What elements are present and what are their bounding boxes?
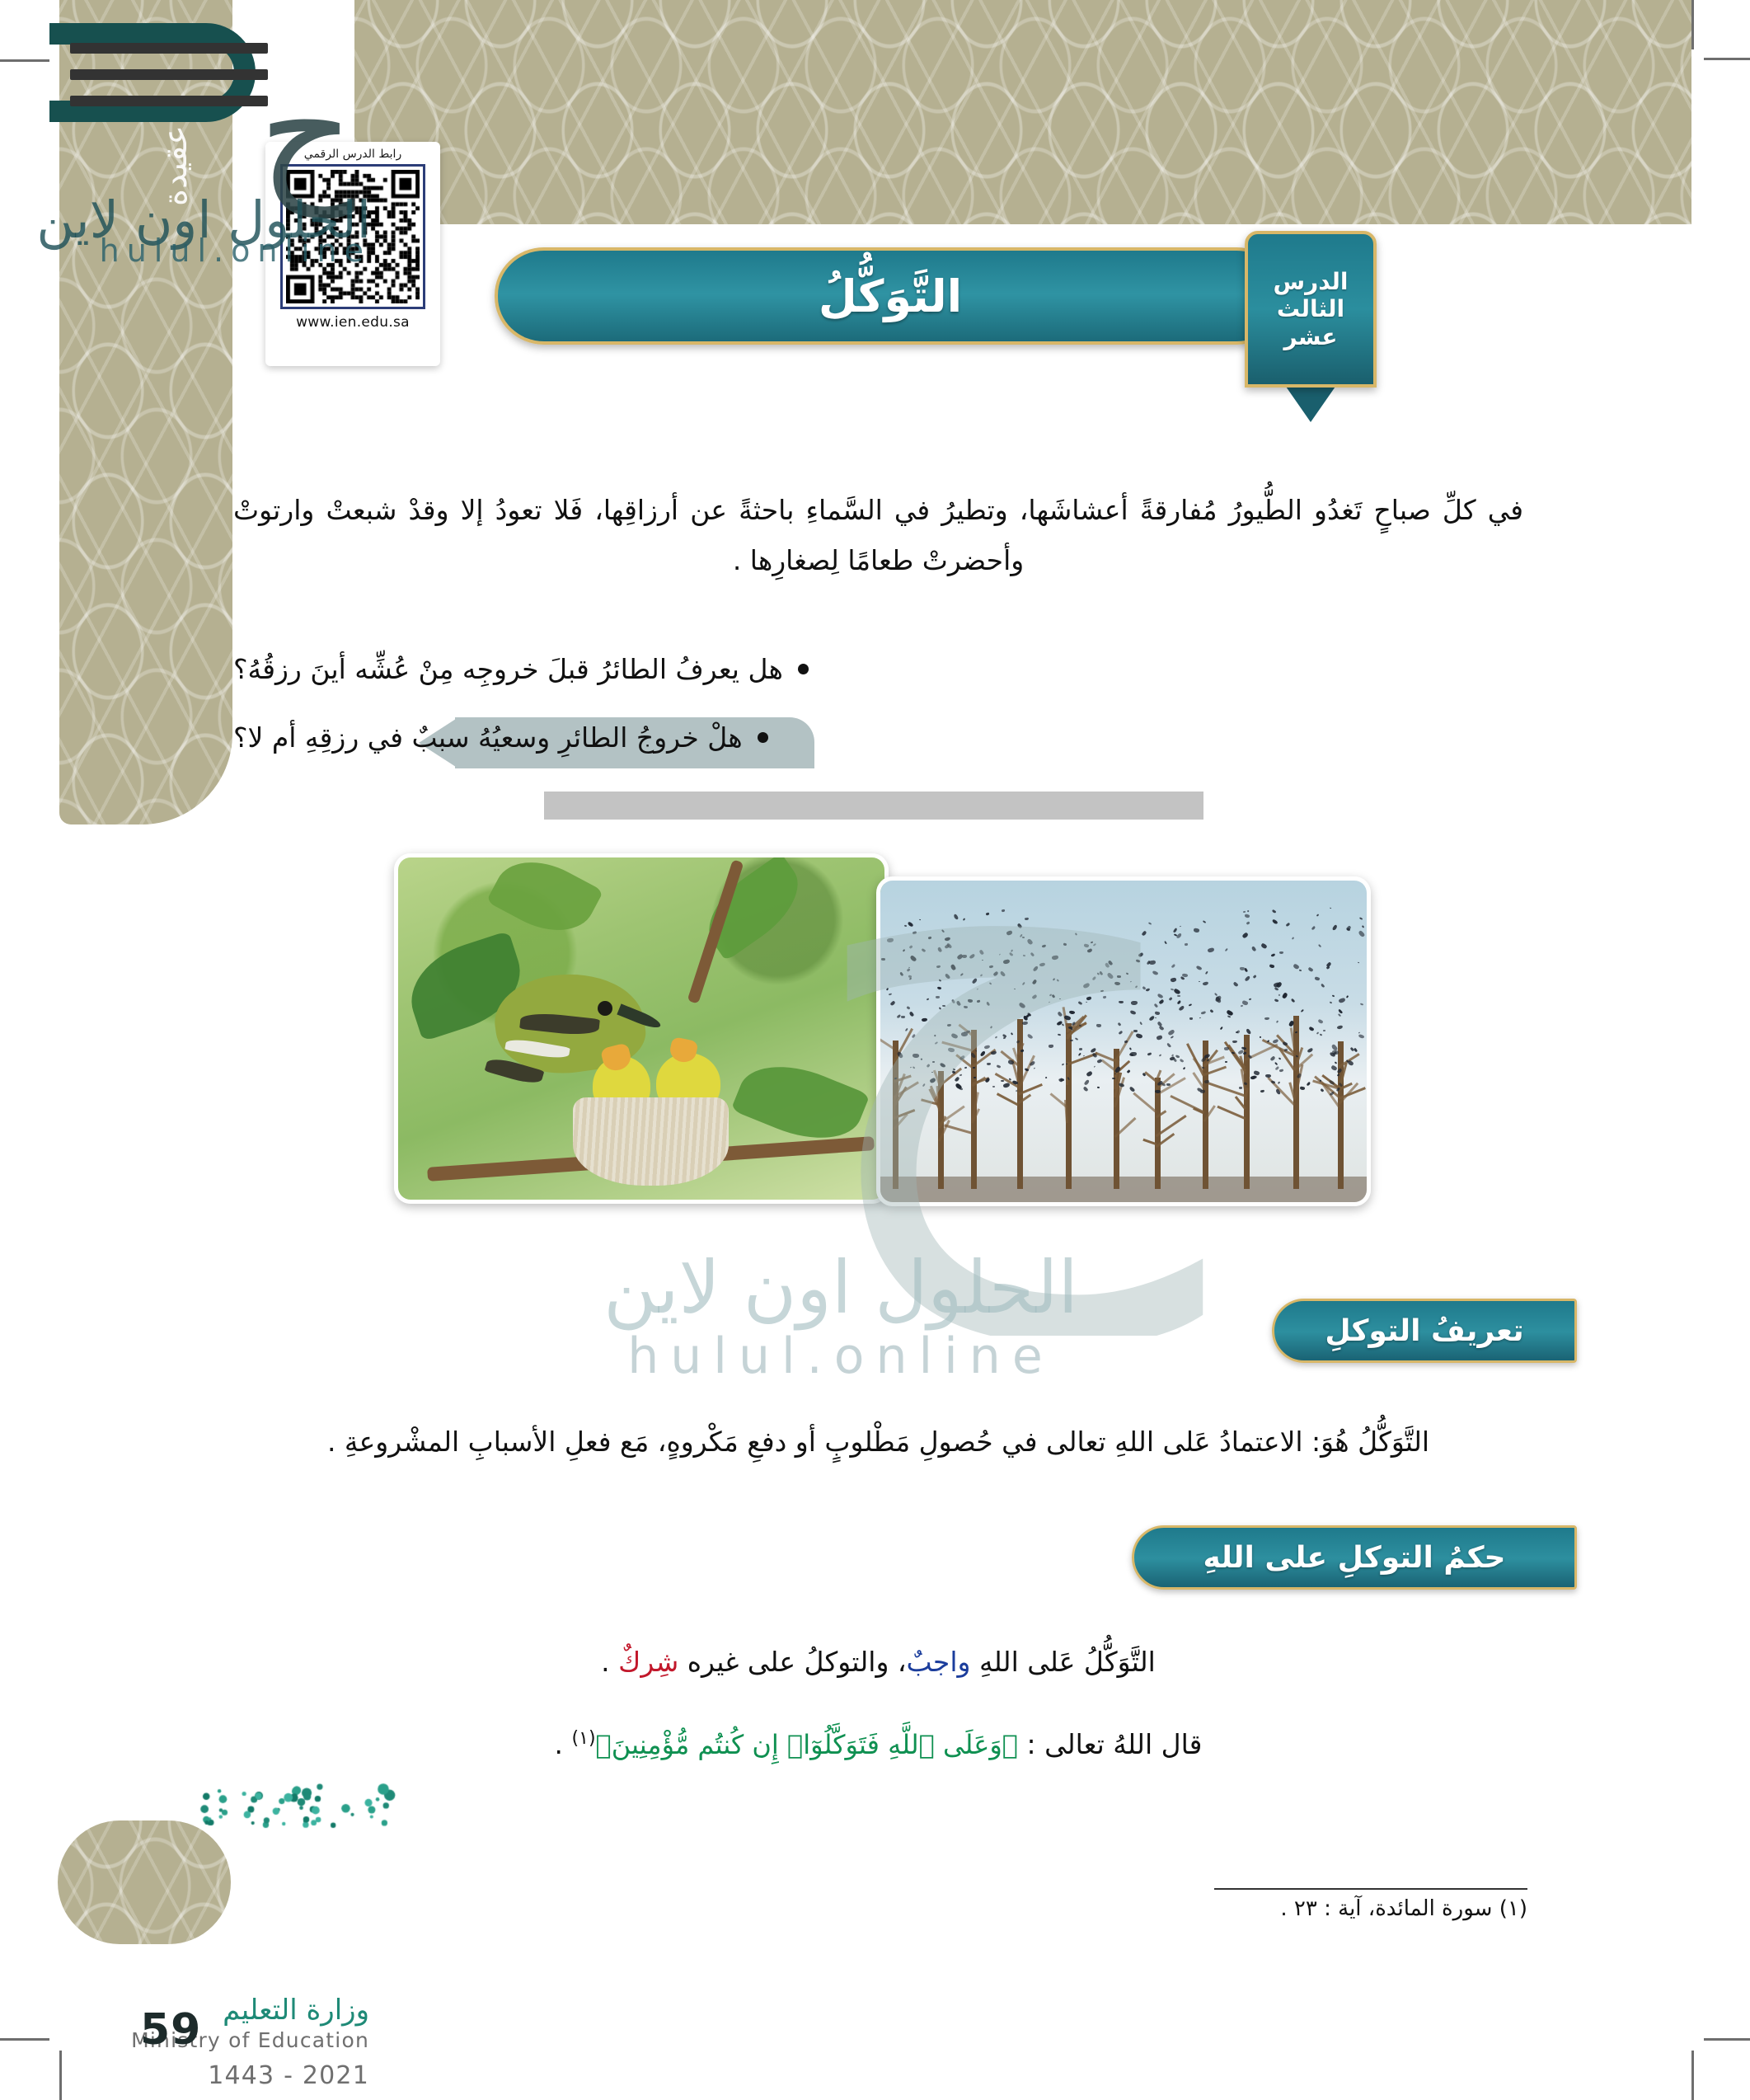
flying-bird-speck [1077, 1053, 1081, 1056]
lesson-badge-line-3: عشر [1283, 324, 1337, 350]
flying-bird-speck [1244, 968, 1248, 973]
flying-bird-speck [1010, 1032, 1012, 1036]
qr-caption: رابط الدرس الرقمي [274, 148, 432, 161]
flying-bird-speck [973, 1067, 975, 1069]
flying-bird-speck [951, 999, 955, 1004]
flying-bird-speck [913, 1054, 919, 1058]
flying-bird-speck [1296, 1055, 1298, 1057]
flying-bird-speck [1000, 1080, 1003, 1082]
flying-bird-speck [977, 999, 981, 1003]
flying-bird-speck [1265, 1074, 1271, 1078]
flying-bird-speck [1203, 921, 1206, 924]
flying-bird-speck [1260, 1090, 1264, 1093]
flying-bird-speck [907, 921, 913, 927]
flying-bird-speck [1155, 1017, 1157, 1018]
flying-bird-speck [999, 954, 1001, 956]
section-header-ruling: حكمُ التوكلِ على اللهِ [1132, 1525, 1577, 1590]
flying-bird-speck [1024, 1068, 1029, 1072]
ruling-part-2: ، والتوكلُ على غيره [678, 1646, 906, 1678]
flying-bird-speck [941, 929, 944, 933]
flying-bird-speck [989, 965, 993, 968]
flying-bird-speck [1311, 926, 1316, 931]
crop-mark-top-left-horizontal [0, 59, 49, 62]
flying-bird-speck [1091, 941, 1094, 943]
flying-bird-speck [905, 1028, 908, 1031]
flying-bird-speck [908, 1011, 913, 1017]
flying-bird-speck [1112, 1078, 1115, 1079]
flying-bird-speck [1320, 984, 1325, 989]
verse-lead-in: قال اللهُ تعالى : [1018, 1728, 1202, 1760]
flying-bird-speck [958, 1087, 963, 1091]
flying-bird-speck [1283, 1049, 1288, 1052]
crop-mark-top-right-vertical [1691, 0, 1694, 49]
flying-bird-speck [1097, 1086, 1100, 1088]
flying-bird-speck [1114, 1066, 1121, 1073]
digital-lesson-qr-card[interactable]: رابط الدرس الرقمي www.ien.edu.sa [265, 142, 440, 366]
flying-bird-speck [945, 937, 951, 942]
flying-bird-speck [1032, 979, 1038, 984]
flying-bird-speck [922, 948, 926, 952]
flying-bird-speck [1260, 1036, 1262, 1038]
flying-bird-speck [1271, 918, 1278, 925]
flying-bird-speck [1069, 1010, 1076, 1014]
flying-bird-speck [1011, 1080, 1018, 1085]
flying-bird-speck [1072, 1022, 1077, 1027]
flying-bird-speck [1244, 1082, 1248, 1086]
flying-bird-speck [984, 1045, 991, 1050]
flying-bird-speck [1208, 947, 1215, 953]
flying-bird-speck [1094, 1066, 1096, 1069]
ruling-word-shirk: شِركٌ [618, 1646, 678, 1678]
flying-bird-speck [975, 1050, 977, 1051]
flying-bird-speck [985, 1077, 991, 1083]
flying-bird-speck [1086, 996, 1091, 1000]
flying-bird-speck [1269, 964, 1275, 969]
flying-bird-speck [1308, 1027, 1314, 1031]
flying-bird-speck [1106, 972, 1114, 980]
flying-bird-speck [1246, 921, 1250, 925]
flying-bird-speck [927, 1064, 931, 1068]
flying-bird-speck [972, 978, 978, 984]
flying-bird-speck [1027, 938, 1034, 946]
flying-bird-speck [1241, 1004, 1244, 1007]
list-item: هلْ خروجُ الطائرِ وسعيُهُ سببٌ في رزقِهِ… [233, 720, 1523, 754]
flying-bird-speck [1128, 1086, 1135, 1092]
flying-bird-speck [1348, 1059, 1355, 1066]
list-item: هل يعرفُ الطائرُ قبلَ خروجِه مِنْ عُشِّه… [233, 651, 1523, 685]
flying-bird-speck [1232, 1041, 1237, 1044]
textbook-page: عقيدة رابط الدرس الرقمي www.ien.edu.sa ا… [0, 0, 1750, 2100]
flying-bird-speck [1326, 965, 1330, 970]
flying-bird-speck [1306, 1082, 1311, 1087]
flying-bird-speck [956, 953, 964, 960]
flying-bird-speck [1058, 998, 1060, 1000]
flying-bird-speck [921, 1059, 923, 1061]
flying-bird-speck [1075, 933, 1077, 936]
flying-bird-speck [951, 1070, 955, 1074]
flying-bird-speck [955, 1001, 960, 1007]
flying-bird-speck [1264, 1017, 1269, 1021]
flying-bird-speck [1127, 1069, 1131, 1073]
definition-paragraph: التَّوَكُّلُ هُوَ: الاعتمادُ عَلى اللهِ … [233, 1416, 1523, 1467]
flying-bird-speck [992, 1085, 994, 1087]
flying-bird-speck [1345, 925, 1351, 931]
flying-bird-speck [1194, 928, 1200, 933]
flying-bird-speck [963, 918, 965, 921]
flying-bird-speck [1206, 1059, 1208, 1061]
flying-bird-speck [1118, 1031, 1123, 1035]
flying-bird-speck [1000, 970, 1006, 977]
flying-bird-speck [988, 982, 992, 985]
flying-bird-speck [1075, 1037, 1078, 1041]
flying-bird-speck [964, 1067, 967, 1069]
flying-bird-speck [1233, 982, 1239, 988]
flying-bird-speck [1138, 951, 1144, 957]
footnote-reference-marker: (١) [572, 1728, 596, 1749]
watermark-arabic: الحلول اون لاين [429, 1245, 1253, 1330]
flying-bird-speck [1020, 1049, 1024, 1052]
flying-bird-speck [1147, 1052, 1152, 1055]
flying-bird-speck [1129, 1047, 1132, 1050]
flying-bird-speck [1336, 1088, 1340, 1092]
flying-bird-speck [1022, 982, 1025, 985]
flying-bird-speck [1092, 943, 1096, 947]
flying-bird-speck [1002, 909, 1006, 912]
flying-bird-speck [1330, 907, 1332, 909]
flying-bird-speck [1099, 970, 1104, 975]
flying-bird-speck [910, 955, 917, 962]
flying-bird-speck [1270, 953, 1275, 957]
lesson-title-banner: التَّوَكُّلُ [495, 247, 1286, 345]
flying-bird-speck [1063, 943, 1067, 947]
flying-bird-speck [1337, 1069, 1343, 1074]
flying-bird-speck [1291, 998, 1296, 1003]
flying-bird-speck [1246, 909, 1249, 912]
flying-bird-speck [1079, 1048, 1083, 1050]
flying-bird-speck [922, 1018, 927, 1022]
flying-bird-speck [977, 988, 979, 990]
flying-bird-speck [1278, 994, 1281, 995]
flying-bird-speck [1288, 1020, 1295, 1027]
flying-bird-speck [919, 919, 922, 921]
flying-bird-speck [1272, 909, 1277, 914]
flying-bird-speck [1332, 1050, 1339, 1055]
flying-bird-speck [1274, 998, 1278, 1003]
flying-bird-speck [1242, 1051, 1246, 1055]
crop-mark-bottom-right-horizontal [1704, 2038, 1750, 2041]
flying-bird-speck [1129, 1010, 1136, 1015]
flying-bird-speck [1185, 943, 1189, 946]
flying-bird-speck [1339, 1083, 1343, 1087]
flying-bird-speck [1087, 947, 1093, 952]
flying-bird-speck [1148, 960, 1155, 965]
flying-bird-speck [1346, 995, 1349, 998]
flying-bird-speck [899, 971, 904, 976]
flying-bird-speck [922, 1083, 926, 1088]
flying-bird-speck [1148, 1015, 1155, 1022]
flying-bird-speck [894, 1078, 898, 1080]
flying-bird-speck [1282, 992, 1288, 999]
flying-bird-speck [1329, 1001, 1332, 1003]
flying-bird-speck [1276, 1020, 1279, 1023]
flying-bird-speck [1124, 1040, 1128, 1043]
flying-bird-speck [1052, 956, 1058, 961]
flying-bird-speck [1069, 1040, 1072, 1042]
lesson-number-badge: الدرس الثالث عشر [1245, 231, 1377, 388]
flying-bird-speck [937, 986, 942, 989]
flying-bird-speck [936, 996, 940, 998]
flying-bird-speck [1315, 977, 1320, 981]
flying-bird-speck [1017, 923, 1023, 929]
flying-bird-speck [1173, 988, 1180, 994]
flying-bird-speck [1317, 944, 1321, 947]
flying-bird-speck [1024, 918, 1028, 921]
flying-bird-speck [1176, 933, 1183, 939]
flying-bird-speck [1052, 994, 1056, 998]
flying-bird-speck [964, 1006, 968, 1009]
flying-bird-speck [1338, 1013, 1341, 1017]
crop-mark-top-right-horizontal [1704, 58, 1750, 60]
flying-bird-speck [1320, 1088, 1324, 1092]
lesson-badge-line-1: الدرس [1273, 269, 1348, 294]
flying-bird-speck [1086, 1002, 1088, 1003]
quran-verse-line: قال اللهُ تعالى : ﴿وَعَلَى ٱللَّهِ فَتَو… [233, 1719, 1523, 1769]
nest-scene [398, 857, 884, 1200]
flying-bird-speck [1082, 1055, 1085, 1056]
flying-bird-speck [1031, 994, 1037, 999]
flying-bird-speck [1202, 1067, 1205, 1069]
flying-bird-speck [979, 974, 982, 976]
flying-bird-speck [1133, 1029, 1138, 1031]
page-number: 59 [140, 2005, 201, 2055]
flying-bird-speck [1114, 1073, 1117, 1075]
flying-bird-speck [980, 1050, 987, 1057]
flying-bird-speck [1078, 1001, 1082, 1005]
flying-bird-speck [1236, 1030, 1241, 1034]
flock-of-birds-photo [876, 876, 1371, 1206]
flying-bird-speck [995, 1036, 998, 1039]
flying-bird-speck [947, 1024, 952, 1027]
flying-bird-speck [1279, 951, 1283, 954]
flying-bird-speck [1278, 1069, 1283, 1073]
flying-bird-speck [1026, 1034, 1033, 1041]
flying-bird-speck [1018, 1002, 1025, 1009]
flying-bird-speck [1225, 948, 1228, 951]
flying-bird-speck [1204, 1080, 1210, 1084]
flying-bird-speck [996, 1065, 1000, 1069]
flying-bird-speck [1042, 945, 1047, 949]
flying-bird-speck [1030, 952, 1035, 956]
verse-trailing-period: . [555, 1728, 572, 1760]
flying-bird-speck [1159, 1054, 1161, 1056]
section-header-label: حكمُ التوكلِ على اللهِ [1203, 1541, 1506, 1575]
flying-bird-speck [907, 968, 911, 972]
flying-bird-speck [1066, 1064, 1067, 1065]
flying-bird-speck [1175, 1055, 1180, 1059]
flying-bird-speck [960, 973, 964, 976]
verse-open-ornament-icon: ﴿ [1002, 1729, 1018, 1760]
flying-bird-speck [1292, 937, 1294, 941]
flying-bird-speck [959, 1074, 962, 1076]
flying-bird-speck [1057, 1034, 1060, 1036]
flying-bird-speck [1155, 1090, 1161, 1094]
top-decorative-band [354, 0, 1691, 224]
qr-url: www.ien.edu.sa [274, 314, 432, 331]
flying-bird-speck [1096, 1024, 1101, 1027]
flying-bird-speck [1203, 982, 1209, 987]
flying-bird-speck [1039, 963, 1046, 968]
flying-bird-speck [1118, 1022, 1122, 1027]
flying-bird-speck [890, 1000, 896, 1006]
flying-bird-speck [1049, 1045, 1053, 1048]
flying-bird-speck [1159, 1026, 1165, 1031]
flying-bird-speck [966, 1030, 970, 1033]
flying-bird-speck [1328, 1080, 1335, 1087]
flying-bird-speck [1224, 1047, 1229, 1050]
flying-bird-speck [1179, 1005, 1185, 1011]
flying-bird-speck [912, 1067, 915, 1070]
flying-bird-speck [1096, 1059, 1102, 1064]
flying-bird-speck [1172, 928, 1177, 933]
flying-bird-speck [969, 953, 976, 959]
flying-bird-speck [1299, 970, 1302, 972]
flying-bird-speck [1057, 1012, 1062, 1017]
flying-bird-speck [909, 977, 913, 980]
footnote-text: (١) سورة المائدة، آية : ٢٣ . [1000, 1896, 1527, 1921]
flying-bird-speck [1358, 1031, 1360, 1033]
flying-bird-speck [986, 912, 990, 915]
flying-bird-speck [1188, 1004, 1191, 1008]
flying-bird-speck [930, 1078, 937, 1083]
flying-bird-speck [1253, 975, 1257, 979]
flying-bird-speck [1062, 1064, 1065, 1066]
flying-bird-speck [1270, 1055, 1276, 1061]
page-title: التَّوَكُّلُ [819, 270, 962, 322]
flying-bird-speck [1189, 1017, 1193, 1020]
flying-bird-speck [1136, 959, 1141, 962]
flying-bird-speck [907, 1006, 911, 1010]
flying-bird-speck [942, 1005, 945, 1007]
ministry-dots-icon [198, 1781, 404, 1830]
flying-bird-speck [1033, 965, 1039, 972]
flying-bird-speck [1171, 977, 1177, 982]
flying-bird-speck [1161, 1083, 1166, 1087]
flying-bird-speck [1139, 1022, 1142, 1026]
ruling-part-1: التَّوَكُّلُ عَلى اللهِ [970, 1646, 1155, 1678]
flying-bird-speck [1022, 937, 1025, 939]
flying-bird-speck [1142, 930, 1147, 936]
flying-bird-speck [1130, 981, 1133, 983]
flying-bird-speck [974, 1077, 976, 1078]
flying-bird-speck [1270, 1081, 1275, 1084]
flying-bird-speck [1164, 941, 1167, 944]
flying-bird-speck [939, 979, 941, 981]
question-list: هل يعرفُ الطائرُ قبلَ خروجِه مِنْ عُشِّه… [233, 651, 1523, 788]
flying-bird-speck [953, 914, 959, 920]
flying-bird-speck [1056, 980, 1058, 982]
flying-bird-speck [1136, 1033, 1143, 1039]
flying-bird-speck [945, 974, 951, 980]
flying-bird-speck [903, 924, 907, 927]
lesson-badge-line-2: الثالث [1277, 296, 1344, 322]
flying-bird-speck [1063, 1015, 1071, 1021]
flying-bird-speck [1274, 1062, 1277, 1066]
flying-bird-speck [936, 965, 941, 969]
crop-mark-bottom-right-vertical [1691, 2051, 1694, 2100]
flying-bird-speck [1049, 1002, 1050, 1003]
flying-bird-speck [1267, 1040, 1269, 1042]
flying-bird-speck [950, 964, 957, 971]
flying-bird-speck [1157, 1035, 1163, 1041]
flying-bird-speck [1358, 930, 1365, 937]
flying-bird-speck [1148, 922, 1152, 925]
flying-bird-speck [1083, 944, 1088, 948]
flying-bird-speck [1131, 1000, 1138, 1004]
flying-bird-speck [1180, 926, 1181, 928]
bird-feeding-chicks-photo [394, 853, 889, 1204]
flying-bird-speck [1083, 1079, 1089, 1086]
flying-bird-speck [1034, 1067, 1036, 1069]
flying-bird-speck [1330, 1043, 1338, 1050]
flying-bird-speck [1335, 1061, 1337, 1064]
flying-bird-speck [1119, 1083, 1125, 1088]
intro-paragraph: في كلِّ صباحٍ تَغدُو الطُّيورُ مُفارقةً … [233, 485, 1523, 585]
flying-bird-speck [1053, 978, 1055, 980]
flying-bird-speck [881, 958, 885, 961]
qr-code-icon[interactable] [280, 164, 425, 309]
flying-bird-speck [1082, 1087, 1088, 1092]
flying-bird-speck [1248, 1055, 1252, 1059]
flying-bird-speck [1008, 1059, 1015, 1064]
flying-bird-speck [1022, 1022, 1029, 1026]
flying-bird-speck [1168, 997, 1172, 1001]
flying-bird-speck [885, 988, 888, 990]
book-emblem-line [70, 43, 268, 54]
flying-bird-speck [1358, 1034, 1365, 1039]
flying-bird-speck [1339, 998, 1346, 1003]
flying-bird-speck [1319, 1034, 1321, 1036]
flying-bird-speck [1337, 1074, 1339, 1077]
flying-bird-speck [1167, 1029, 1175, 1036]
question-text: هل يعرفُ الطائرُ قبلَ خروجِه مِنْ عُشِّه… [233, 653, 783, 685]
flying-bird-speck [938, 1007, 941, 1009]
flying-bird-speck [979, 949, 984, 955]
book-emblem-line [70, 96, 268, 106]
flying-bird-speck [1250, 1075, 1255, 1079]
flying-bird-speck [954, 1076, 959, 1082]
flying-bird-speck [909, 945, 913, 949]
footnote-divider [1214, 1888, 1527, 1890]
flying-bird-speck [967, 999, 973, 1003]
flying-bird-speck [903, 949, 905, 951]
flying-bird-speck [1360, 1003, 1363, 1005]
flying-bird-speck [959, 1055, 966, 1061]
flying-bird-speck [991, 1051, 997, 1056]
flying-bird-speck [896, 1051, 903, 1059]
flying-bird-speck [1278, 1081, 1281, 1084]
flying-bird-speck [990, 1026, 992, 1028]
flying-bird-speck [931, 1072, 933, 1073]
flying-bird-speck [1362, 925, 1365, 928]
bullet-dot-icon [798, 664, 809, 674]
flying-bird-speck [1231, 1052, 1234, 1055]
flying-bird-speck [1307, 966, 1313, 972]
flying-bird-speck [1301, 1009, 1304, 1012]
flying-bird-speck [1244, 914, 1250, 918]
section-header-label: تعريفُ التوكلِ [1325, 1314, 1523, 1348]
page-number-backdrop [58, 1820, 231, 1944]
flying-bird-speck [1166, 1042, 1171, 1047]
